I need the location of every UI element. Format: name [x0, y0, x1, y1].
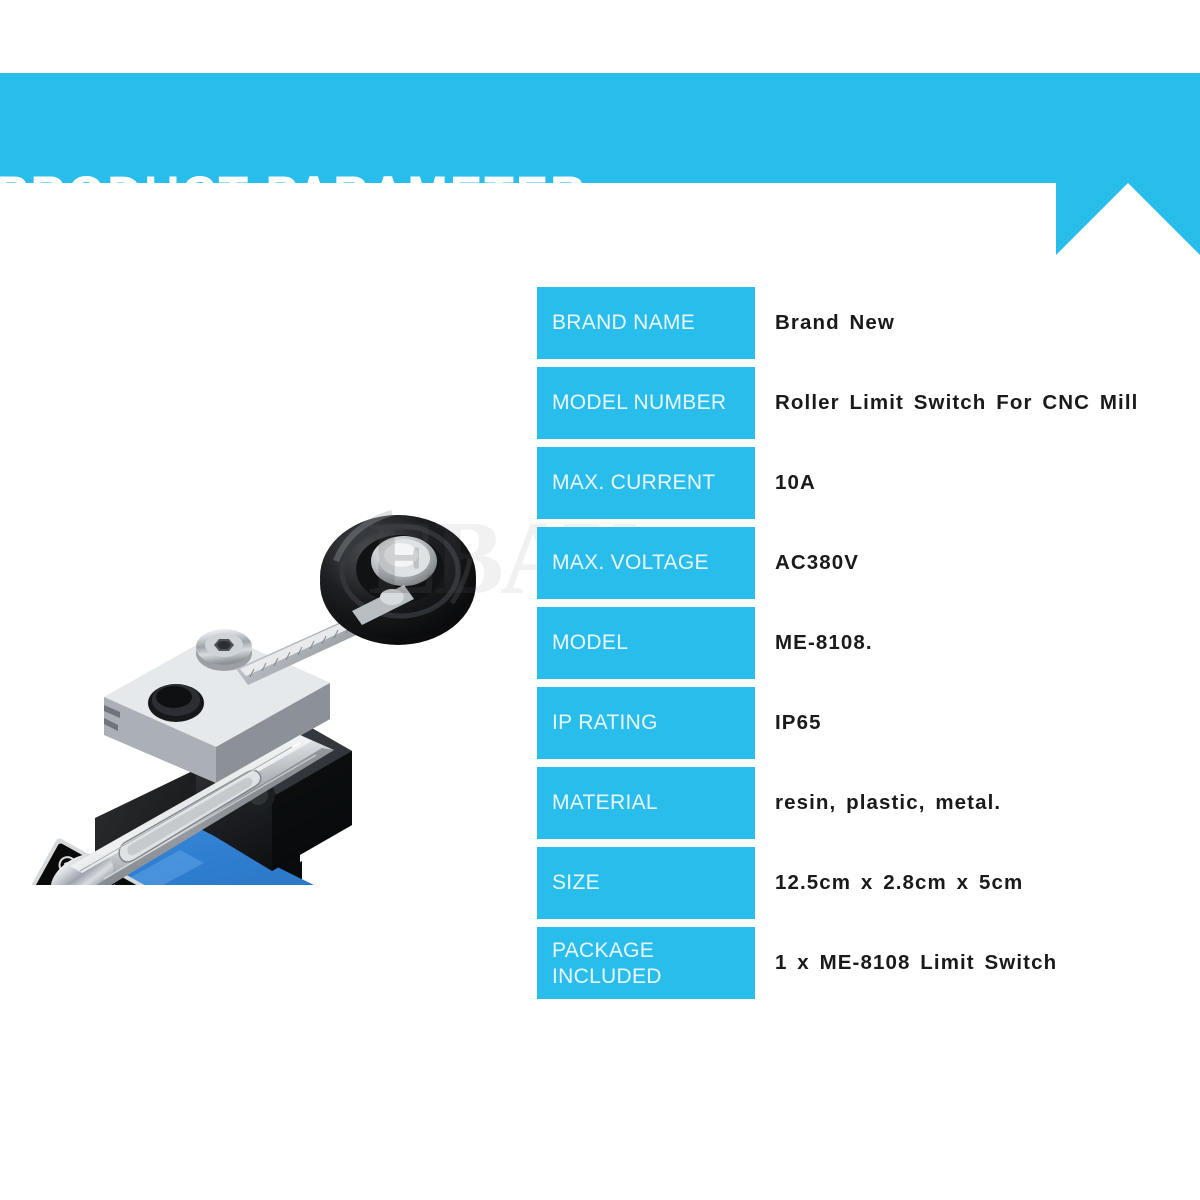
table-row: MAX. VOLTAGE AC380V [537, 527, 1177, 607]
spec-value-max-voltage: AC380V [775, 527, 859, 599]
spec-value-ip-rating: IP65 [775, 687, 822, 759]
table-row: MODEL NUMBER Roller Limit Switch For CNC… [537, 367, 1177, 447]
spec-label-material: MATERIAL [537, 767, 755, 839]
spec-value-package-included: 1 x ME-8108 Limit Switch [775, 927, 1057, 999]
header-banner: PRODUCT PARAMETER [0, 73, 1200, 183]
spec-label-package-included: PACKAGE INCLUDED [537, 927, 755, 999]
spec-label-text: MODEL NUMBER [552, 390, 755, 416]
spec-value-size: 12.5cm x 2.8cm x 5cm [775, 847, 1023, 919]
table-row: IP RATING IP65 [537, 687, 1177, 767]
spec-label-text: SIZE [552, 870, 755, 896]
spec-label-model: MODEL [537, 607, 755, 679]
table-row: MATERIAL resin, plastic, metal. [537, 767, 1177, 847]
spec-label-text: MAX. VOLTAGE [552, 550, 755, 576]
table-row: MAX. CURRENT 10A [537, 447, 1177, 527]
page-title: PRODUCT PARAMETER [0, 169, 695, 222]
spec-label-brand-name: BRAND NAME [537, 287, 755, 359]
spec-label-model-number: MODEL NUMBER [537, 367, 755, 439]
spec-label-text: BRAND NAME [552, 310, 755, 336]
spec-label-text-line2: INCLUDED [552, 964, 755, 990]
spec-value-model: ME-8108. [775, 607, 873, 679]
table-row: MODEL ME-8108. [537, 607, 1177, 687]
spec-label-text: MODEL [552, 630, 755, 656]
spec-label-max-voltage: MAX. VOLTAGE [537, 527, 755, 599]
triangle-down-icon [1056, 183, 1200, 255]
table-row: BRAND NAME Brand New [537, 287, 1177, 367]
spec-value-max-current: 10A [775, 447, 816, 519]
spec-label-ip-rating: IP RATING [537, 687, 755, 759]
table-row: SIZE 12.5cm x 2.8cm x 5cm [537, 847, 1177, 927]
spec-label-text: IP RATING [552, 710, 755, 736]
spec-label-text: MATERIAL [552, 790, 755, 816]
spec-label-text: MAX. CURRENT [552, 470, 755, 496]
product-image: moujen LIMIT SWITCH ME-8108 AC380V 10A I… [0, 265, 520, 885]
spec-label-text: PACKAGE [552, 938, 755, 964]
spec-label-max-current: MAX. CURRENT [537, 447, 755, 519]
product-parameter-table: BRAND NAME Brand New MODEL NUMBER Roller… [537, 287, 1177, 1007]
table-row: PACKAGE INCLUDED 1 x ME-8108 Limit Switc… [537, 927, 1177, 1007]
spec-label-size: SIZE [537, 847, 755, 919]
spec-value-material: resin, plastic, metal. [775, 767, 1001, 839]
spec-value-model-number: Roller Limit Switch For CNC Mill [775, 367, 1138, 439]
spec-value-brand-name: Brand New [775, 287, 895, 359]
